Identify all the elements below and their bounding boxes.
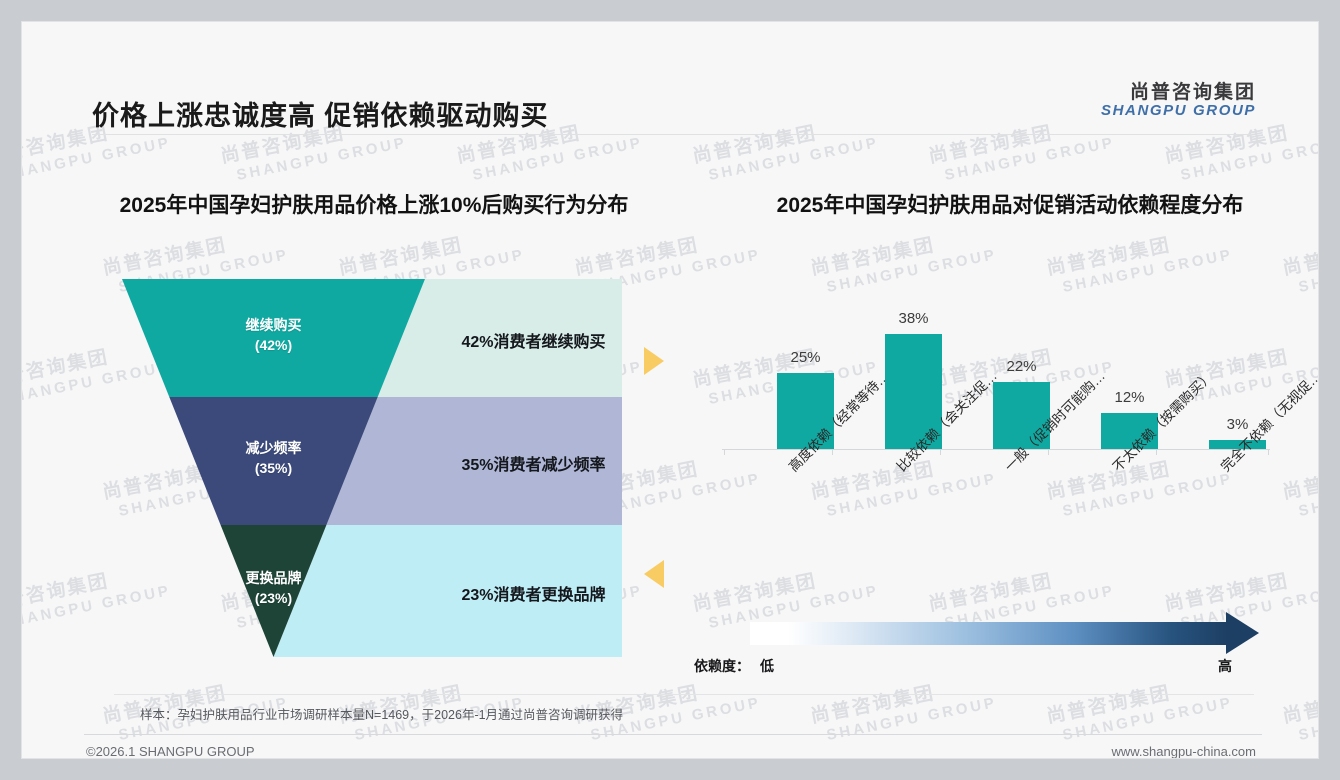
footer-copyright: ©2026.1 SHANGPU GROUP [86,744,255,758]
legend-high-label: 高 [1218,656,1232,676]
x-axis-tick [1268,449,1269,455]
bar-value-label: 38% [875,310,952,327]
bar-value-label: 25% [767,349,844,366]
x-axis-tick [1156,449,1157,455]
sample-footnote: 样本：孕妇护肤用品行业市场调研样本量N=1469，于2026年-1月通过尚普咨询… [140,704,623,723]
bar-value-label: 12% [1091,389,1168,406]
x-axis-tick [1048,449,1049,455]
x-axis-tick [832,449,833,455]
footer-website: www.shangpu-china.com [1111,744,1256,758]
dependency-gradient-bar [750,622,1228,645]
slide-header: 价格上涨忠诚度高 促销依赖驱动购买 尚普咨询集团 SHANGPU GROUP [22,22,1318,127]
page-title: 价格上涨忠诚度高 促销依赖驱动购买 [92,94,549,133]
footer-divider [84,734,1262,735]
footnote-divider [114,694,1254,695]
legend-caption: 依赖度： [694,656,750,676]
legend-low-label: 低 [760,656,774,676]
slide-canvas: 尚普咨询集团SHANGPU GROUP尚普咨询集团SHANGPU GROUP尚普… [0,0,1340,780]
x-axis-tick [724,449,725,455]
slide-card: 尚普咨询集团SHANGPU GROUP尚普咨询集团SHANGPU GROUP尚普… [22,22,1318,758]
gradient-arrowhead-icon [1226,612,1259,654]
logo-chinese-text: 尚普咨询集团 [1101,82,1256,103]
x-axis-tick [940,449,941,455]
header-divider [92,134,1252,135]
bar-value-label: 22% [983,358,1060,375]
logo-english-text: SHANGPU GROUP [1101,103,1256,120]
brand-logo: 尚普咨询集团 SHANGPU GROUP [1101,82,1256,120]
